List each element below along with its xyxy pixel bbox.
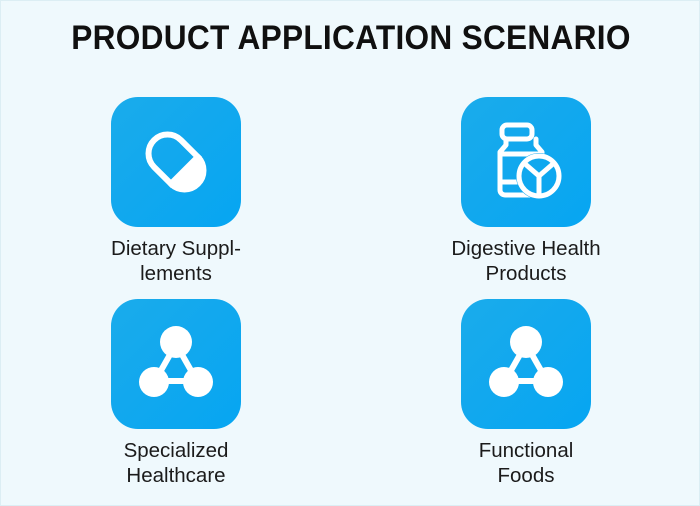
application-scenario-grid: Dietary Suppl- lements: [1, 97, 700, 501]
icon-tile[interactable]: [111, 299, 241, 429]
supplement-bottle-clock-icon: [482, 118, 570, 206]
scenario-item-specialized-healthcare[interactable]: Specialized Healthcare: [61, 299, 291, 501]
scenario-caption: Specialized Healthcare: [61, 438, 291, 488]
icon-tile[interactable]: [461, 97, 591, 227]
slide-canvas: PRODUCT APPLICATION SCENARIO Dietary Sup…: [0, 0, 700, 506]
scenario-item-dietary-supplements[interactable]: Dietary Suppl- lements: [61, 97, 291, 299]
scenario-caption: Digestive Health Products: [411, 236, 641, 286]
molecule-network-icon: [133, 321, 219, 407]
capsule-pill-icon: [133, 119, 219, 205]
icon-tile[interactable]: [111, 97, 241, 227]
scenario-item-digestive-health-products[interactable]: Digestive Health Products: [411, 97, 641, 299]
page-title: PRODUCT APPLICATION SCENARIO: [26, 19, 677, 58]
scenario-item-functional-foods[interactable]: Functional Foods: [411, 299, 641, 501]
icon-tile[interactable]: [461, 299, 591, 429]
scenario-caption: Dietary Suppl- lements: [61, 236, 291, 286]
scenario-caption: Functional Foods: [411, 438, 641, 488]
molecule-network-icon: [483, 321, 569, 407]
